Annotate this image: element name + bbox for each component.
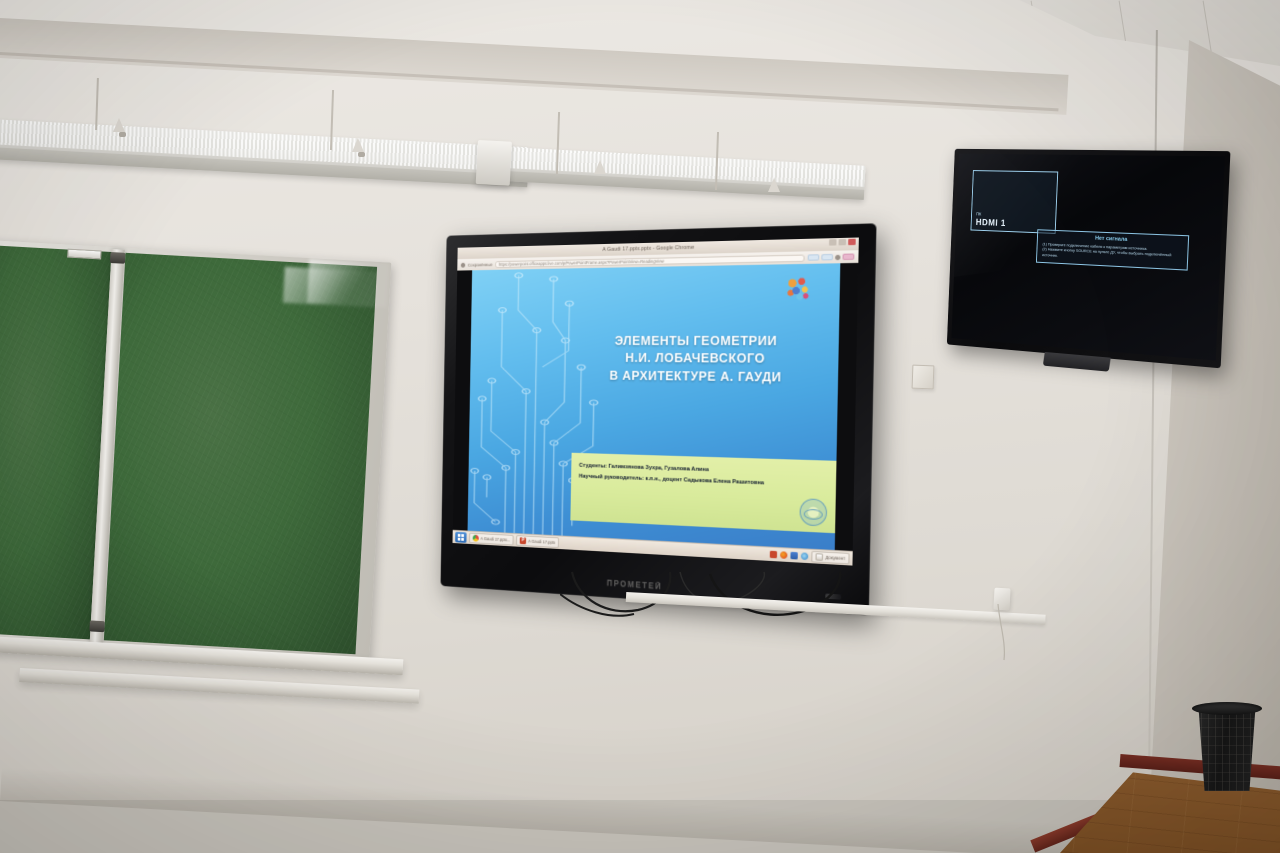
presentation-slide[interactable]: ЭЛЕМЕНТЫ ГЕОМЕТРИИ Н.И. ЛОБАЧЕВСКОГО В А… (468, 263, 841, 550)
address-bar-url[interactable]: https://powerpoint.officeapps.live.com/p… (499, 258, 664, 266)
slide-title-line-1: ЭЛЕМЕНТЫ ГЕОМЕТРИИ (574, 332, 823, 351)
lamp-hanger-bracket-2 (352, 138, 364, 152)
taskbar-item-label: Документ (825, 555, 845, 561)
green-chalkboard (0, 240, 391, 662)
maximize-button[interactable] (839, 239, 847, 245)
start-button[interactable] (455, 532, 467, 543)
window-controls[interactable] (829, 239, 856, 246)
powerpoint-icon: P (520, 537, 526, 544)
save-icon[interactable] (791, 552, 798, 560)
wall-outlet-box[interactable] (912, 365, 935, 390)
tv-osd-source-main: HDMI 1 (976, 217, 1051, 230)
slide-title: ЭЛЕМЕНТЫ ГЕОМЕТРИИ Н.И. ЛОБАЧЕВСКОГО В А… (573, 332, 823, 388)
classroom-scene: ТБ-8 A Gaudi 17.pptx.pptx - Google Chrom… (0, 0, 1280, 853)
lamp-hanger-bracket (113, 118, 125, 132)
cable-raceway-end-cap (993, 588, 1010, 611)
waste-basket[interactable] (1194, 709, 1260, 791)
bookmarks-bar-label[interactable]: Сохранённые (468, 262, 493, 267)
slide-stage: ЭЛЕМЕНТЫ ГЕОМЕТРИИ Н.И. ЛОБАЧЕВСКОГО В А… (453, 263, 859, 551)
interactive-flat-panel[interactable]: ТБ-8 A Gaudi 17.pptx.pptx - Google Chrom… (440, 223, 876, 615)
lamp-hanger-cap (119, 132, 126, 137)
windows-logo-icon (458, 534, 464, 541)
slide-credits-band: Студенты: Галимзянова Зухра, Гузалова Ал… (571, 453, 837, 533)
chrome-icon (473, 535, 479, 542)
lamp-hanger-bracket-3 (594, 160, 606, 174)
slide-title-line-3: В АРХИТЕКТУРЕ А. ГАУДИ (573, 367, 822, 387)
share-button[interactable] (821, 254, 833, 261)
chalkboard-glare (283, 267, 377, 308)
bookmark-star-icon[interactable] (461, 262, 465, 267)
tv-osd-message-box: Нет сигнала (1) Проверьте подключение ка… (1036, 229, 1189, 271)
taskbar-item-chrome[interactable]: A Gaudi 17.pptx... (469, 533, 514, 546)
document-icon (816, 553, 824, 561)
powerpoint-icon-2[interactable] (770, 551, 777, 559)
internet-explorer-icon[interactable] (801, 552, 808, 560)
browser-window[interactable]: A Gaudi 17.pptx.pptx - Google Chrome Сох… (452, 238, 859, 566)
lamp-joint-box (476, 140, 512, 186)
panel-display-area[interactable]: A Gaudi 17.pptx.pptx - Google Chrome Сох… (452, 238, 859, 566)
taskbar-item-document[interactable]: Документ (812, 551, 850, 565)
taskbar-item-powerpoint[interactable]: P A Gaudi 17.pptx (516, 535, 559, 548)
colorful-circle-logo-icon (784, 275, 812, 302)
account-avatar[interactable] (843, 253, 855, 260)
taskbar-item-label: A Gaudi 17.pptx... (481, 536, 511, 542)
lamp-hanger-bracket-4 (768, 178, 780, 192)
chalkboard-clip[interactable] (67, 249, 101, 260)
close-button[interactable] (848, 239, 856, 246)
chevron-down-icon[interactable] (835, 254, 840, 259)
waste-basket-mesh (1194, 709, 1260, 791)
waste-basket-rim (1192, 702, 1262, 715)
slide-credit-supervisor: Научный руководитель: к.п.н., доцент Сад… (579, 472, 826, 492)
taskbar-item-label: A Gaudi 17.pptx (528, 539, 555, 545)
tv-screen[interactable]: ПК HDMI 1 Нет сигнала (1) Проверьте подк… (951, 154, 1225, 361)
slide-title-line-2: Н.И. ЛОБАЧЕВСКОГО (573, 350, 822, 369)
minimize-button[interactable] (829, 239, 837, 245)
wall-mounted-tv[interactable]: ПК HDMI 1 Нет сигнала (1) Проверьте подк… (947, 149, 1231, 369)
toolbar-right-group[interactable] (808, 253, 855, 260)
chalkboard-panel-right (104, 253, 377, 654)
browser-window-title: A Gaudi 17.pptx.pptx - Google Chrome (602, 245, 694, 253)
lamp-hanger-cap-2 (358, 152, 365, 157)
university-seal-icon (799, 498, 827, 526)
tv-osd-source-box: ПК HDMI 1 (970, 171, 1058, 234)
present-button[interactable] (808, 254, 820, 261)
firefox-icon[interactable] (780, 551, 787, 559)
